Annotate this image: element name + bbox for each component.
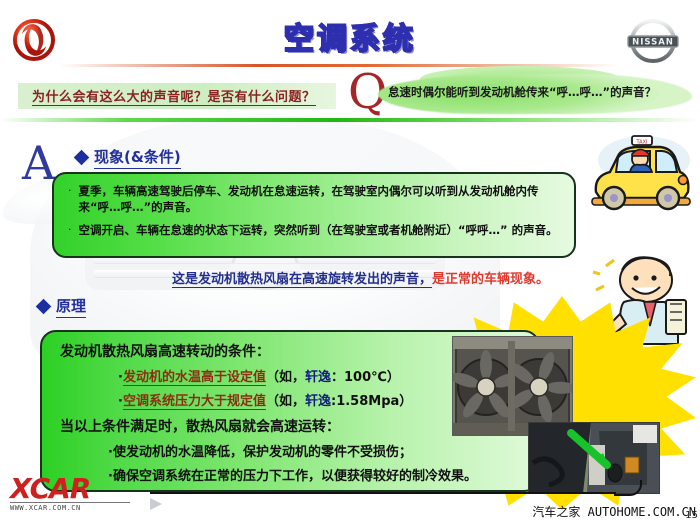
list-item: · 夏季，车辆高速驾驶后停车、发动机在怠速运转，在驾驶室内偶尔可以听到从发动机舱… <box>68 183 558 215</box>
list-item: ·确保空调系统在正常的压力下工作，以便获得较好的制冷效果。 <box>108 465 528 484</box>
condition-2-underlined: 空调系统压力大于规定值 <box>123 394 266 410</box>
condition-1-model: 轩逸 <box>305 370 331 385</box>
diamond-bullet-icon <box>36 299 52 315</box>
question-text: 怠速时偶尔能听到发动机舱传来“呼…呼…”的声音？ <box>388 84 694 100</box>
phenomenon-bullet-1: 夏季，车辆高速驾驶后停车、发动机在怠速运转，在驾驶室内偶尔可以听到从发动机舱内传… <box>79 183 559 215</box>
section-heading-phenomenon: 现象(&条件) <box>76 146 181 169</box>
condition-1-open: （如， <box>266 370 305 385</box>
slide-root: NISSAN 空调系统 <box>0 0 700 524</box>
condition-1-close: ：100℃） <box>331 370 400 385</box>
watermark-en: AUTOHOME.COM.CN <box>588 505 696 519</box>
footer-rule <box>150 492 616 494</box>
bullet-dot-icon: · <box>68 222 72 238</box>
xcar-wordmark: XCAR <box>10 476 160 502</box>
list-item: · 空调开启、车辆在怠速的状态下运转，突然听到（在驾驶室或者机舱附近）“呼呼…”… <box>68 222 558 238</box>
xcar-logo: XCAR WWW.XCAR.COM.CN <box>10 476 160 512</box>
section1-title: 现象(&条件) <box>94 146 181 169</box>
a-letter: A <box>22 140 55 186</box>
slide-title: 空调系统 <box>0 14 700 58</box>
svg-text:TAXI: TAXI <box>636 139 648 145</box>
condition-2-close: :1.58Mpa） <box>331 394 412 409</box>
conclusion-red: 是正常的车辆现象。 <box>432 272 549 287</box>
bullet-dot-icon: · <box>68 183 72 215</box>
cooling-fan-photo <box>452 336 573 436</box>
condition-2-open: （如， <box>266 394 305 409</box>
cartoon-car-icon: TAXI <box>588 132 694 228</box>
xcar-url: WWW.XCAR.COM.CN <box>10 502 130 512</box>
conclusion-line: 这是发动机散热风扇在高速旋转发出的声音，是正常的车辆现象。 <box>172 268 612 287</box>
list-item: ·使发动机的水温降低，保护发动机的零件不受损伤； <box>108 441 528 460</box>
diamond-bullet-icon <box>74 150 90 166</box>
condition-2-model: 轩逸 <box>305 394 331 409</box>
nissan-logo-icon: NISSAN <box>622 18 684 64</box>
page-number: 15 <box>685 510 698 521</box>
condition-1-underlined: 发动机的水温高于设定值 <box>123 370 266 386</box>
svg-text:NISSAN: NISSAN <box>632 38 674 48</box>
watermark-cn: 汽车之家 <box>532 505 580 519</box>
question-left-box: 为什么会有这么大的声音呢？是否有什么问题？ <box>18 83 336 109</box>
conclusion-blue: 这是发动机散热风扇在高速旋转发出的声音， <box>172 272 432 288</box>
section2-title: 原理 <box>56 295 86 318</box>
phenomenon-box: · 夏季，车辆高速驾驶后停车、发动机在怠速运转，在驾驶室内偶尔可以听到从发动机舱… <box>52 172 576 258</box>
autohome-watermark: 汽车之家 AUTOHOME.COM.CN <box>532 503 696 520</box>
section-heading-principle: 原理 <box>38 295 86 318</box>
phenomenon-bullet-2: 空调开启、车辆在怠速的状态下运转，突然听到（在驾驶室或者机舱附近）“呼呼…” 的… <box>79 222 558 238</box>
question-left-text: 为什么会有这么大的声音呢？是否有什么问题？ <box>32 86 316 106</box>
